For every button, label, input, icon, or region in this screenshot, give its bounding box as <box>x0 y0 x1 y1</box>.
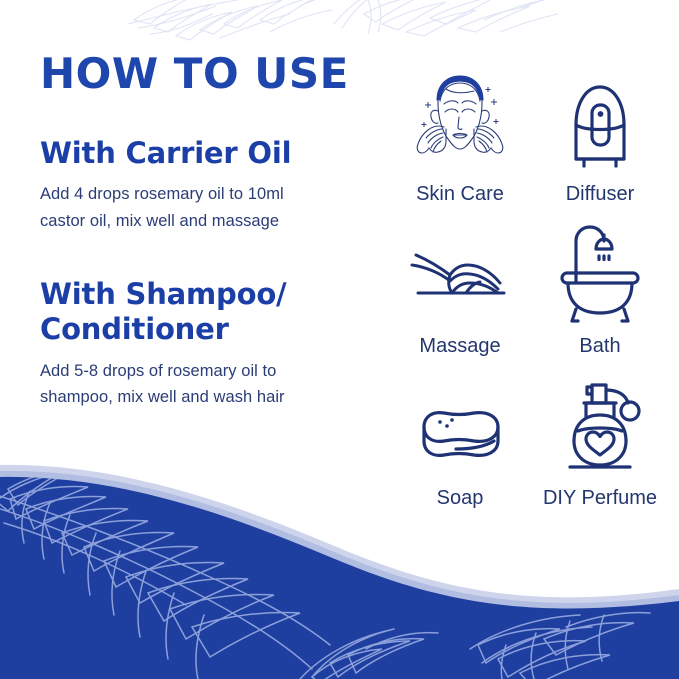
bathtub-shower-icon <box>535 223 665 331</box>
instruction-body: Add 4 drops rosemary oil to 10ml castor … <box>40 181 370 234</box>
instruction-heading-line: With Shampoo/ <box>40 277 286 311</box>
instruction-block-carrier-oil: With Carrier Oil Add 4 drops rosemary oi… <box>40 136 370 235</box>
instruction-block-shampoo: With Shampoo/ Conditioner Add 5-8 drops … <box>40 277 370 411</box>
massage-hands-icon <box>395 223 525 331</box>
use-item-soap: Soap <box>392 356 528 508</box>
use-item-label: Diffuser <box>566 184 635 204</box>
use-item-diy-perfume: DIY Perfume <box>532 356 668 508</box>
diffuser-icon <box>535 71 665 179</box>
section-spacer <box>40 243 370 277</box>
instruction-heading: With Carrier Oil <box>40 136 370 171</box>
face-skincare-icon <box>395 71 525 179</box>
instruction-body-line: Add 5-8 drops of rosemary oil to <box>40 362 276 380</box>
usage-icon-grid: Skin Care Diffuser <box>392 52 668 508</box>
instruction-body-line: shampoo, mix well and wash hair <box>40 388 285 406</box>
instruction-heading: With Shampoo/ Conditioner <box>40 277 370 348</box>
use-item-massage: Massage <box>392 204 528 356</box>
use-item-skin-care: Skin Care <box>392 52 528 204</box>
use-item-label: DIY Perfume <box>543 488 657 508</box>
rosemary-sprig-outline-icon <box>120 0 560 46</box>
use-item-label: Skin Care <box>416 184 504 204</box>
use-item-bath: Bath <box>532 204 668 356</box>
use-item-diffuser: Diffuser <box>532 52 668 204</box>
instruction-body-line: castor oil, mix well and massage <box>40 212 279 230</box>
how-to-use-infographic: HOW TO USE With Carrier Oil Add 4 drops … <box>0 0 679 679</box>
perfume-atomizer-icon <box>535 375 665 483</box>
instructions-column: HOW TO USE With Carrier Oil Add 4 drops … <box>40 52 370 419</box>
use-item-label: Soap <box>437 488 484 508</box>
instruction-heading-line: Conditioner <box>40 312 229 346</box>
page-title: HOW TO USE <box>40 52 370 96</box>
use-item-label: Massage <box>419 336 500 356</box>
soap-bar-icon <box>395 375 525 483</box>
use-item-label: Bath <box>579 336 620 356</box>
instruction-body-line: Add 4 drops rosemary oil to 10ml <box>40 185 284 203</box>
instruction-body: Add 5-8 drops of rosemary oil to shampoo… <box>40 358 370 411</box>
